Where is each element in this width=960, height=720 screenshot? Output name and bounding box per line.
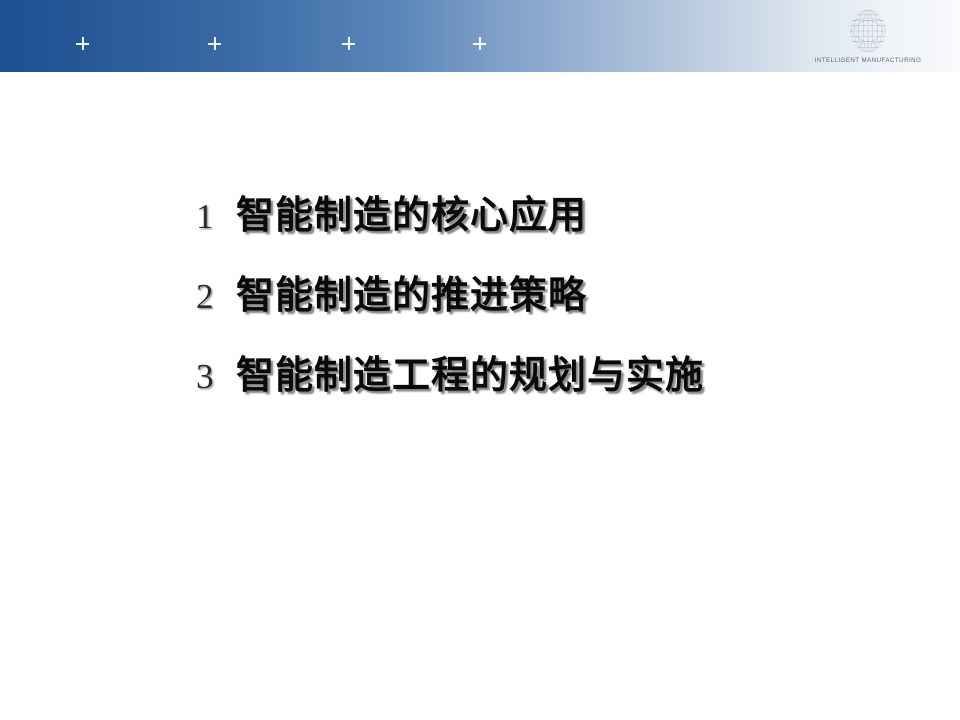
agenda-item-3[interactable]: 3 智能制造工程的规划与实施 bbox=[196, 356, 916, 436]
agenda-item-3-title: 智能制造工程的规划与实施 bbox=[236, 356, 704, 394]
agenda-list: 1 智能制造的核心应用 2 智能制造的推进策略 3 智能制造工程的规划与实施 bbox=[196, 196, 916, 436]
agenda-item-1[interactable]: 1 智能制造的核心应用 bbox=[196, 196, 916, 276]
presentation-slide: INTELLIGENT MANUFACTURING 1 智能制造的核心应用 2 … bbox=[0, 0, 960, 720]
agenda-item-2[interactable]: 2 智能制造的推进策略 bbox=[196, 276, 916, 356]
brand-logo: INTELLIGENT MANUFACTURING bbox=[806, 6, 930, 70]
plus-decoration-icon-2 bbox=[208, 37, 221, 50]
wireframe-globe-icon bbox=[844, 6, 892, 56]
agenda-item-2-title: 智能制造的推进策略 bbox=[236, 276, 587, 314]
plus-decoration-icon-4 bbox=[473, 37, 486, 50]
plus-decoration-icon-3 bbox=[342, 37, 355, 50]
agenda-item-3-number: 3 bbox=[196, 359, 236, 394]
plus-decoration-icon-1 bbox=[76, 37, 89, 50]
agenda-item-1-number: 1 bbox=[196, 199, 236, 234]
agenda-item-2-number: 2 bbox=[196, 279, 236, 314]
brand-logo-caption: INTELLIGENT MANUFACTURING bbox=[806, 57, 930, 64]
header-gradient-band: INTELLIGENT MANUFACTURING bbox=[0, 0, 960, 72]
agenda-item-1-title: 智能制造的核心应用 bbox=[236, 196, 587, 234]
